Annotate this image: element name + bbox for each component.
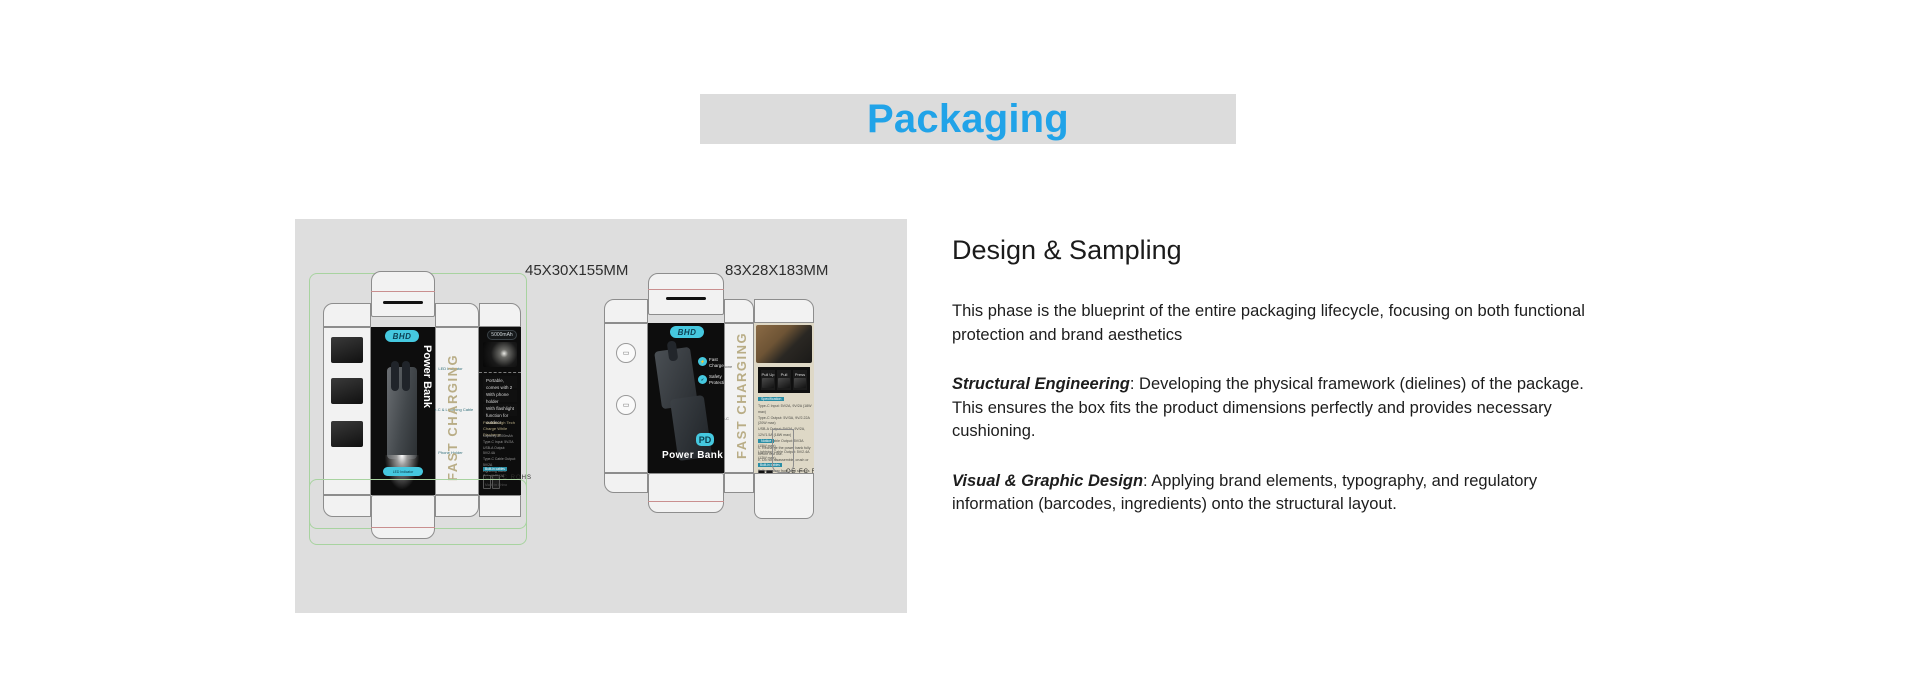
point-paragraph-structural: Structural Engineering: Developing the p…	[952, 373, 1592, 443]
feature-bullet: Portable, comes with 2 output cables	[483, 376, 517, 388]
point-lead: Visual & Graphic Design	[952, 472, 1143, 490]
product-name-bottom: Power Bank	[662, 450, 723, 461]
capacity-badge: 5000mAh	[487, 330, 517, 340]
packaging-dieline-artwork: 45X30X155MM 83X28X183MM LED Indicator Ty…	[295, 219, 907, 613]
section-heading: Design & Sampling	[952, 234, 1592, 266]
fast-charging-vertical-text: FAST CHARGING	[445, 341, 460, 481]
step-label: Pull Up	[761, 372, 775, 377]
point-paragraph-visual: Visual & Graphic Design: Applying brand …	[952, 470, 1592, 517]
brand-logo: BHD	[670, 326, 704, 338]
dieline-right: ▭ For iPhone ▭ Type-C BHD ⚡ Fast Charge …	[600, 279, 845, 529]
product-name-vertical: Power Bank	[420, 345, 432, 408]
spec-header: Specification	[758, 397, 784, 401]
spec-line: USB-A Output: 5V/2.4A	[483, 446, 517, 458]
brand-logo: BHD	[385, 330, 419, 342]
step-label: Press	[793, 372, 807, 377]
feature-label: Fast Charge	[709, 357, 724, 369]
dieline-left: LED Indicator Type-C & Lightning Cable P…	[315, 279, 570, 569]
intro-paragraph: This phase is the blueprint of the entir…	[952, 300, 1592, 347]
fast-charging-vertical-text: FAST CHARGING	[734, 335, 749, 459]
ports-label: Built-in cables	[483, 467, 507, 471]
dimension-label-left: 45X30X155MM	[525, 262, 628, 279]
pd-badge: PD	[696, 433, 714, 446]
title-band: Packaging	[700, 94, 1236, 144]
feature-bullet: With flashlight function for outdoor	[483, 404, 517, 416]
spec-line: Type-C Input: 5V/2A	[483, 440, 517, 446]
page-title: Packaging	[867, 99, 1069, 139]
for-iphone-icon: ▭	[616, 343, 636, 363]
spec-line: Type-C Input: 5V/2A, 9V/2A (18W max)	[758, 404, 812, 416]
feature-bullet: With phone holder function	[483, 390, 517, 402]
feature-label: Safety Protection	[709, 374, 723, 386]
type-c-icon: ▭	[616, 395, 636, 415]
text-column: Design & Sampling This phase is the blue…	[952, 234, 1592, 516]
dimension-label-right: 83X28X183MM	[725, 262, 828, 279]
point-lead: Structural Engineering	[952, 375, 1130, 393]
led-badge-text: LED Indicator	[393, 470, 414, 474]
spec-line: Capacity: 5000mAh	[483, 434, 517, 440]
spec-line: Type-C Output: 5V/3A, 9V/2.22A (20W max)	[758, 416, 812, 428]
